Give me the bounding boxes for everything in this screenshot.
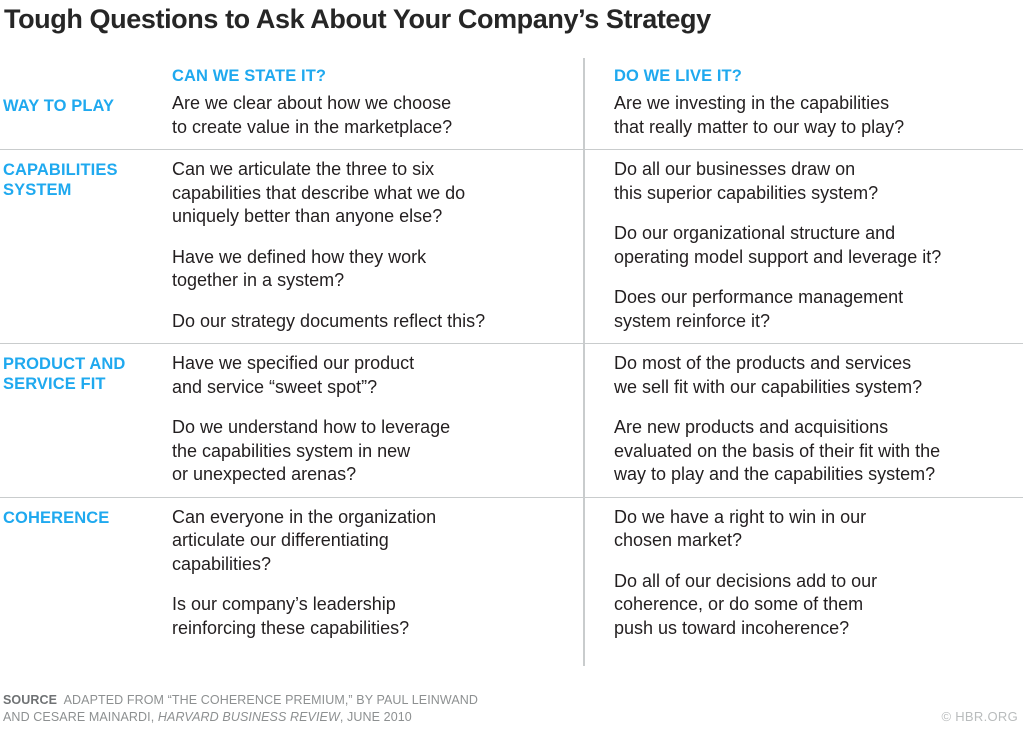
table-row: COHERENCE Can everyone in the organizati… (0, 497, 1023, 651)
cell-left-capabilities-system: Can we articulate the three to six capab… (169, 150, 583, 343)
question-item: Can everyone in the organization articul… (172, 506, 569, 577)
question-item: Have we specified our product and servic… (172, 352, 569, 399)
question-item: Does our performance management system r… (614, 286, 1015, 333)
table-row: CAPABILITIES SYSTEM Can we articulate th… (0, 149, 1023, 343)
infographic-page: Tough Questions to Ask About Your Compan… (0, 0, 1023, 730)
cell-right-capabilities-system: Do all our businesses draw on this super… (583, 150, 1023, 343)
source-line-2-prefix: AND CESARE MAINARDI, (3, 710, 158, 724)
question-item: Do all of our decisions add to our coher… (614, 570, 1015, 641)
cell-right-way-to-play: DO WE LIVE IT? Are we investing in the c… (583, 58, 1023, 149)
question-item: Do our strategy documents reflect this? (172, 310, 569, 334)
source-line-2-suffix: , JUNE 2010 (340, 710, 412, 724)
column-header-do-we-live-it: DO WE LIVE IT? (614, 66, 1015, 86)
question-item: Do our organizational structure and oper… (614, 222, 1015, 269)
question-item: Do we have a right to win in our chosen … (614, 506, 1015, 553)
source-publication: HARVARD BUSINESS REVIEW (158, 710, 340, 724)
question-item: Do all our businesses draw on this super… (614, 158, 1015, 205)
question-item: Is our company’s leadership reinforcing … (172, 593, 569, 640)
cell-left-product-and-service-fit: Have we specified our product and servic… (169, 344, 583, 497)
cell-left-way-to-play: CAN WE STATE IT? Are we clear about how … (169, 58, 583, 149)
questions-table: WAY TO PLAY CAN WE STATE IT? Are we clea… (0, 58, 1023, 650)
question-item: Do most of the products and services we … (614, 352, 1015, 399)
page-title: Tough Questions to Ask About Your Compan… (4, 2, 1004, 36)
cell-left-coherence: Can everyone in the organization articul… (169, 498, 583, 651)
source-line-1: ADAPTED FROM “THE COHERENCE PREMIUM,” BY… (64, 693, 478, 707)
column-header-can-we-state-it: CAN WE STATE IT? (172, 66, 569, 86)
row-label-capabilities-system: CAPABILITIES SYSTEM (0, 150, 169, 200)
question-item: Do we understand how to leverage the cap… (172, 416, 569, 487)
row-label-coherence: COHERENCE (0, 498, 169, 528)
cell-right-product-and-service-fit: Do most of the products and services we … (583, 344, 1023, 497)
source-label: SOURCE (3, 693, 57, 707)
table-row: PRODUCT AND SERVICE FIT Have we specifie… (0, 343, 1023, 497)
footer: SOURCE ADAPTED FROM “THE COHERENCE PREMI… (3, 692, 1018, 726)
cell-right-coherence: Do we have a right to win in our chosen … (583, 498, 1023, 651)
question-item: Can we articulate the three to six capab… (172, 158, 569, 229)
row-label-product-and-service-fit: PRODUCT AND SERVICE FIT (0, 344, 169, 394)
question-item: Have we defined how they work together i… (172, 246, 569, 293)
source-note: SOURCE ADAPTED FROM “THE COHERENCE PREMI… (3, 692, 478, 726)
question-item: Are new products and acquisitions evalua… (614, 416, 1015, 487)
table-row: WAY TO PLAY CAN WE STATE IT? Are we clea… (0, 58, 1023, 149)
question-item: Are we investing in the capabilities tha… (614, 92, 1015, 139)
copyright-credit: © HBR.ORG (941, 692, 1018, 724)
question-item: Are we clear about how we choose to crea… (172, 92, 569, 139)
row-label-way-to-play: WAY TO PLAY (0, 58, 169, 116)
